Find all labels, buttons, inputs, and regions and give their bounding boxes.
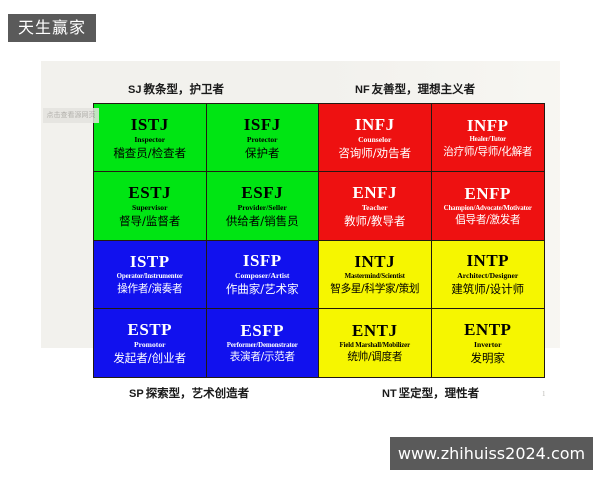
mbti-type-english: Protector <box>247 136 278 144</box>
mbti-type-code: ESTJ <box>128 184 171 202</box>
mbti-type-code: ISTP <box>130 253 170 271</box>
mbti-type-english: Composer/Artist <box>235 272 289 280</box>
mbti-type-chinese: 稽查员/检查者 <box>113 147 186 160</box>
mbti-type-code: ENFP <box>465 185 511 203</box>
mbti-type-english: Supervisor <box>132 204 167 212</box>
mbti-type-code: ISFP <box>243 252 282 270</box>
mbti-cell-infj[interactable]: INFJCounselor咨询师/劝告者 <box>319 104 432 172</box>
mbti-type-english: Mastermind/Scientist <box>345 273 405 281</box>
mbti-type-code: INTJ <box>354 253 395 271</box>
mbti-type-chinese: 智多星/科学家/策划 <box>330 284 419 296</box>
quadrant-code-sj: SJ <box>128 84 141 96</box>
url-watermark: www.zhihuiss2024.com <box>390 437 593 470</box>
mbti-type-chinese: 保护者 <box>245 147 280 160</box>
mbti-type-code: ISFJ <box>244 116 281 134</box>
mbti-type-code: ISTJ <box>131 116 169 134</box>
mbti-cell-isfp[interactable]: ISFPComposer/Artist作曲家/艺术家 <box>207 241 320 309</box>
mbti-type-code: ESTP <box>127 321 172 339</box>
mbti-cell-entp[interactable]: ENTPInvertor发明家 <box>432 309 545 377</box>
mbti-type-code: ESFP <box>240 322 284 340</box>
mbti-type-chinese: 建筑师/设计师 <box>451 283 524 296</box>
mbti-cell-istj[interactable]: ISTJInspector稽查员/检查者 <box>94 104 207 172</box>
mbti-type-chinese: 表演者/示范者 <box>230 352 295 364</box>
mbti-type-chinese: 倡导者/激发者 <box>455 215 520 227</box>
mbti-type-chinese: 教师/教导者 <box>344 215 405 228</box>
quadrant-label-nf: NF友善型，理想主义者 <box>355 81 475 97</box>
mbti-cell-enfp[interactable]: ENFPChampion/Advocate/Motivator倡导者/激发者 <box>432 172 545 240</box>
page-number: 1 <box>542 390 546 398</box>
mbti-type-english: Healer/Tutor <box>469 136 506 144</box>
mbti-cell-intj[interactable]: INTJMastermind/Scientist智多星/科学家/策划 <box>319 241 432 309</box>
mbti-type-code: INFJ <box>355 116 395 134</box>
mbti-type-code: INFP <box>467 117 509 135</box>
mbti-type-chinese: 发明家 <box>471 352 506 365</box>
mbti-cell-estp[interactable]: ESTPPromotor发起者/创业者 <box>94 309 207 377</box>
mbti-type-code: INTP <box>466 252 509 270</box>
mbti-type-chinese: 治疗师/导师/化解者 <box>443 147 532 159</box>
mbti-type-english: Teacher <box>362 204 388 212</box>
mbti-type-chinese: 督导/监督者 <box>119 215 180 228</box>
quadrant-code-nt: NT <box>382 388 397 400</box>
mbti-type-grid: ISTJInspector稽查员/检查者ISFJProtector保护者INFJ… <box>93 103 545 378</box>
mbti-cell-esfp[interactable]: ESFPPerformer/Demonstrator表演者/示范者 <box>207 309 320 377</box>
mbti-type-english: Counselor <box>358 136 391 144</box>
mbti-type-chinese: 作曲家/艺术家 <box>226 283 299 296</box>
mbti-type-english: Champion/Advocate/Motivator <box>444 205 532 213</box>
quadrant-text-sp: 探索型，艺术创造者 <box>146 388 250 400</box>
quadrant-text-nf: 友善型，理想主义者 <box>372 84 476 96</box>
mbti-type-chinese: 发起者/创业者 <box>113 352 186 365</box>
mbti-type-chinese: 咨询师/劝告者 <box>338 147 411 160</box>
mbti-type-english: Operator/Instrumentor <box>117 273 183 281</box>
quadrant-label-nt: NT坚定型，理性者 <box>382 385 479 401</box>
mbti-cell-infp[interactable]: INFPHealer/Tutor治疗师/导师/化解者 <box>432 104 545 172</box>
mbti-cell-enfj[interactable]: ENFJTeacher教师/教导者 <box>319 172 432 240</box>
mbti-cell-istp[interactable]: ISTPOperator/Instrumentor操作者/演奏者 <box>94 241 207 309</box>
mbti-cell-estj[interactable]: ESTJSupervisor督导/监督者 <box>94 172 207 240</box>
mbti-type-english: Invertor <box>474 341 501 349</box>
quadrant-label-sp: SP探索型，艺术创造者 <box>129 385 249 401</box>
quadrant-code-sp: SP <box>129 388 144 400</box>
mbti-type-chinese: 操作者/演奏者 <box>117 284 182 296</box>
quadrant-text-nt: 坚定型，理性者 <box>399 388 480 400</box>
mbti-cell-esfj[interactable]: ESFJProvider/Seller供给者/销售员 <box>207 172 320 240</box>
mbti-type-english: Performer/Demonstrator <box>227 342 298 350</box>
mbti-type-code: ENTJ <box>352 322 397 340</box>
quadrant-text-sj: 教条型，护卫者 <box>143 84 224 96</box>
mbti-cell-intp[interactable]: INTPArchitect/Designer建筑师/设计师 <box>432 241 545 309</box>
source-page-hint[interactable]: 点击查看源网页 <box>43 108 99 123</box>
mbti-cell-entj[interactable]: ENTJField Marshall/Mobilizer统帅/调度者 <box>319 309 432 377</box>
mbti-type-english: Provider/Seller <box>238 204 287 212</box>
mbti-type-english: Architect/Designer <box>457 272 518 280</box>
mbti-type-code: ENTP <box>464 321 511 339</box>
mbti-type-chinese: 统帅/调度者 <box>347 352 402 364</box>
brand-watermark: 天生赢家 <box>8 14 96 42</box>
mbti-type-code: ENFJ <box>353 184 398 202</box>
mbti-type-english: Inspector <box>134 136 165 144</box>
mbti-type-english: Promotor <box>134 341 166 349</box>
quadrant-code-nf: NF <box>355 84 370 96</box>
mbti-cell-isfj[interactable]: ISFJProtector保护者 <box>207 104 320 172</box>
quadrant-label-sj: SJ教条型，护卫者 <box>128 81 224 97</box>
mbti-type-english: Field Marshall/Mobilizer <box>340 342 410 350</box>
mbti-type-code: ESFJ <box>241 184 283 202</box>
mbti-type-chinese: 供给者/销售员 <box>226 215 299 228</box>
